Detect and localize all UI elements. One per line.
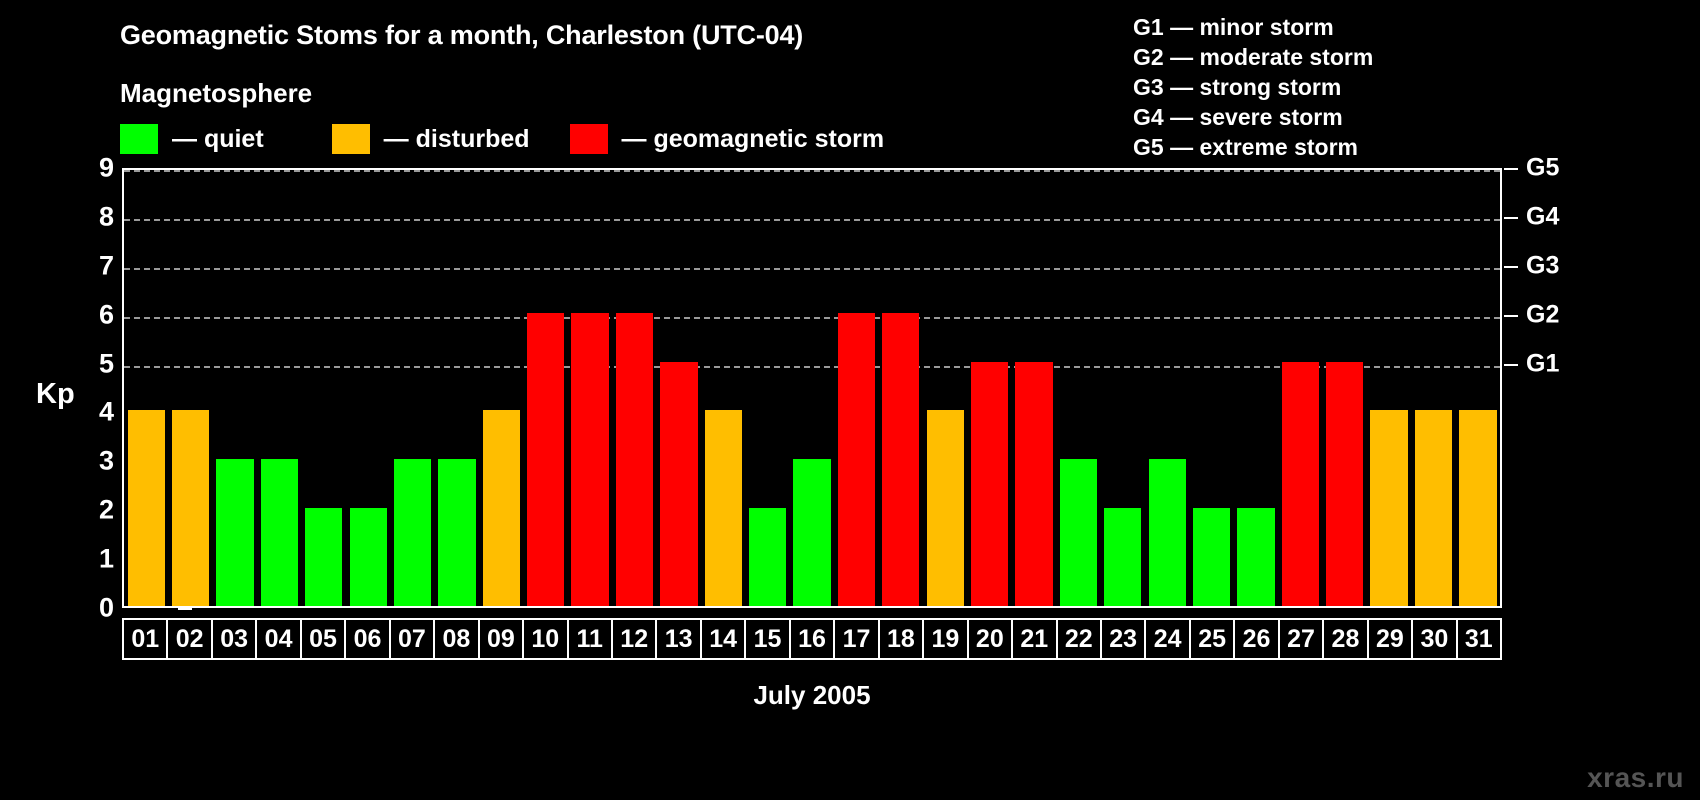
bar-day-26-quiet[interactable] <box>1237 508 1274 606</box>
day-label-01[interactable]: 01 <box>124 620 168 658</box>
bar-cell-day-09[interactable] <box>479 170 523 606</box>
g-scale-legend-row-g5: G5 — extreme storm <box>1133 132 1373 162</box>
g-axis-label-g3: G3 <box>1526 253 1559 278</box>
bar-cell-day-01[interactable] <box>124 170 168 606</box>
day-label-11[interactable]: 11 <box>569 620 613 658</box>
day-label-15[interactable]: 15 <box>746 620 790 658</box>
day-label-17[interactable]: 17 <box>835 620 879 658</box>
bar-day-30-disturbed[interactable] <box>1415 410 1452 606</box>
day-label-07[interactable]: 07 <box>391 620 435 658</box>
bar-cell-day-02[interactable] <box>168 170 212 606</box>
bar-cell-day-08[interactable] <box>435 170 479 606</box>
bar-day-29-disturbed[interactable] <box>1370 410 1407 606</box>
y-tick-label-6: 6 <box>99 301 114 328</box>
magnetosphere-legend: — quiet— disturbed— geomagnetic storm <box>120 122 884 156</box>
bar-cell-day-06[interactable] <box>346 170 390 606</box>
bar-day-03-quiet[interactable] <box>216 459 253 606</box>
day-label-31[interactable]: 31 <box>1458 620 1500 658</box>
day-label-26[interactable]: 26 <box>1235 620 1279 658</box>
page-title: Geomagnetic Stoms for a month, Charlesto… <box>120 20 803 51</box>
bar-cell-day-21[interactable] <box>1012 170 1056 606</box>
bar-cell-day-27[interactable] <box>1278 170 1322 606</box>
bar-cell-day-24[interactable] <box>1145 170 1189 606</box>
day-label-25[interactable]: 25 <box>1191 620 1235 658</box>
bar-cell-day-29[interactable] <box>1367 170 1411 606</box>
y-tick-label-2: 2 <box>99 497 114 524</box>
y-tick-label-8: 8 <box>99 203 114 230</box>
g-axis-label-g5: G5 <box>1526 156 1559 181</box>
day-label-24[interactable]: 24 <box>1146 620 1190 658</box>
bar-day-22-quiet[interactable] <box>1060 459 1097 606</box>
day-label-18[interactable]: 18 <box>880 620 924 658</box>
bar-cell-day-05[interactable] <box>302 170 346 606</box>
day-label-19[interactable]: 19 <box>924 620 968 658</box>
bar-day-18-storm[interactable] <box>882 313 919 606</box>
g-scale-legend: G1 — minor stormG2 — moderate stormG3 — … <box>1133 12 1373 162</box>
day-label-02[interactable]: 02 <box>168 620 212 658</box>
g-axis-label-g1: G1 <box>1526 351 1559 376</box>
bar-cell-day-14[interactable] <box>701 170 745 606</box>
day-label-23[interactable]: 23 <box>1102 620 1146 658</box>
legend-entry-disturbed: — disturbed <box>332 122 530 156</box>
legend-entry-storm: — geomagnetic storm <box>570 122 885 156</box>
g-axis-tick-g4 <box>1504 217 1518 219</box>
day-label-14[interactable]: 14 <box>702 620 746 658</box>
bar-day-11-storm[interactable] <box>571 313 608 606</box>
bar-cell-day-11[interactable] <box>568 170 612 606</box>
g-scale-legend-row-g1: G1 — minor storm <box>1133 12 1373 42</box>
bar-day-13-storm[interactable] <box>660 362 697 606</box>
g-axis-tick-g2 <box>1504 315 1518 317</box>
bar-day-10-storm[interactable] <box>527 313 564 606</box>
bar-cell-day-07[interactable] <box>390 170 434 606</box>
bar-day-23-quiet[interactable] <box>1104 508 1141 606</box>
day-label-09[interactable]: 09 <box>480 620 524 658</box>
bar-day-06-quiet[interactable] <box>350 508 387 606</box>
y-axis: 0123456789 <box>70 168 114 608</box>
g-axis-label-g4: G4 <box>1526 204 1559 229</box>
g-axis-label-g2: G2 <box>1526 302 1559 327</box>
bar-cell-day-17[interactable] <box>834 170 878 606</box>
disturbed-swatch <box>332 124 370 154</box>
y-tick-label-4: 4 <box>99 399 114 426</box>
legend-label: — quiet <box>172 127 264 152</box>
bar-cell-day-23[interactable] <box>1101 170 1145 606</box>
y-tick-label-9: 9 <box>99 155 114 182</box>
g-scale-legend-row-g2: G2 — moderate storm <box>1133 42 1373 72</box>
bar-day-08-quiet[interactable] <box>438 459 475 606</box>
bar-cell-day-25[interactable] <box>1189 170 1233 606</box>
g-scale-legend-row-g4: G4 — severe storm <box>1133 102 1373 132</box>
day-label-04[interactable]: 04 <box>257 620 301 658</box>
bar-cell-day-30[interactable] <box>1411 170 1455 606</box>
day-label-20[interactable]: 20 <box>969 620 1013 658</box>
bar-cell-day-19[interactable] <box>923 170 967 606</box>
bar-cell-day-15[interactable] <box>745 170 789 606</box>
day-label-22[interactable]: 22 <box>1058 620 1102 658</box>
bar-cell-day-18[interactable] <box>879 170 923 606</box>
bar-cell-day-22[interactable] <box>1056 170 1100 606</box>
y-tick-label-7: 7 <box>99 252 114 279</box>
bar-cell-day-12[interactable] <box>612 170 656 606</box>
day-label-27[interactable]: 27 <box>1280 620 1324 658</box>
day-label-16[interactable]: 16 <box>791 620 835 658</box>
bar-cell-day-04[interactable] <box>257 170 301 606</box>
bar-cell-day-03[interactable] <box>213 170 257 606</box>
bar-day-09-disturbed[interactable] <box>483 410 520 606</box>
day-label-12[interactable]: 12 <box>613 620 657 658</box>
bar-day-01-disturbed[interactable] <box>128 410 165 606</box>
y-tick-label-1: 1 <box>99 546 114 573</box>
bar-cell-day-10[interactable] <box>524 170 568 606</box>
g-scale-axis: G1G2G3G4G5 <box>1504 168 1584 608</box>
g-scale-legend-row-g3: G3 — strong storm <box>1133 72 1373 102</box>
bar-day-15-quiet[interactable] <box>749 508 786 606</box>
day-label-10[interactable]: 10 <box>524 620 568 658</box>
x-axis-day-labels: 0102030405060708091011121314151617181920… <box>122 618 1502 660</box>
day-label-21[interactable]: 21 <box>1013 620 1057 658</box>
bar-day-28-storm[interactable] <box>1326 362 1363 606</box>
day-label-29[interactable]: 29 <box>1369 620 1413 658</box>
y-tick-label-5: 5 <box>99 350 114 377</box>
legend-label: — geomagnetic storm <box>622 127 885 152</box>
legend-heading: Magnetosphere <box>120 78 312 109</box>
watermark: xras.ru <box>1587 762 1684 794</box>
day-label-28[interactable]: 28 <box>1324 620 1368 658</box>
day-label-08[interactable]: 08 <box>435 620 479 658</box>
bar-day-07-quiet[interactable] <box>394 459 431 606</box>
storm-swatch <box>570 124 608 154</box>
y-tick-label-0: 0 <box>99 595 114 622</box>
bar-cell-day-31[interactable] <box>1456 170 1500 606</box>
bar-cell-day-20[interactable] <box>967 170 1011 606</box>
plot-area <box>122 168 1502 608</box>
day-label-13[interactable]: 13 <box>657 620 701 658</box>
bar-cell-day-13[interactable] <box>657 170 701 606</box>
legend-entry-quiet: — quiet <box>120 122 264 156</box>
day-label-06[interactable]: 06 <box>346 620 390 658</box>
g-axis-tick-g3 <box>1504 266 1518 268</box>
y-tick-label-3: 3 <box>99 448 114 475</box>
bar-day-25-quiet[interactable] <box>1193 508 1230 606</box>
plot-inner <box>124 170 1500 606</box>
legend-label: — disturbed <box>384 127 530 152</box>
bar-day-21-storm[interactable] <box>1015 362 1052 606</box>
bar-day-02-disturbed[interactable] <box>172 410 209 606</box>
bar-day-05-quiet[interactable] <box>305 508 342 606</box>
y-tick-mark-0 <box>178 608 192 610</box>
bar-day-16-quiet[interactable] <box>793 459 830 606</box>
day-label-05[interactable]: 05 <box>302 620 346 658</box>
bar-day-04-quiet[interactable] <box>261 459 298 606</box>
bar-day-14-disturbed[interactable] <box>705 410 742 606</box>
y-axis-title: Kp <box>36 378 75 411</box>
bar-cell-day-26[interactable] <box>1234 170 1278 606</box>
quiet-swatch <box>120 124 158 154</box>
day-label-30[interactable]: 30 <box>1413 620 1457 658</box>
bar-day-31-disturbed[interactable] <box>1459 410 1496 606</box>
bar-day-20-storm[interactable] <box>971 362 1008 606</box>
bar-day-24-quiet[interactable] <box>1149 459 1186 606</box>
bar-cell-day-16[interactable] <box>790 170 834 606</box>
day-label-03[interactable]: 03 <box>213 620 257 658</box>
x-axis-title: July 2005 <box>122 680 1502 711</box>
g-axis-tick-g1 <box>1504 364 1518 366</box>
bar-day-19-disturbed[interactable] <box>927 410 964 606</box>
bar-day-12-storm[interactable] <box>616 313 653 606</box>
bar-day-17-storm[interactable] <box>838 313 875 606</box>
bar-cell-day-28[interactable] <box>1323 170 1367 606</box>
bar-day-27-storm[interactable] <box>1282 362 1319 606</box>
bars-container <box>124 170 1500 606</box>
g-axis-tick-g5 <box>1504 168 1518 170</box>
